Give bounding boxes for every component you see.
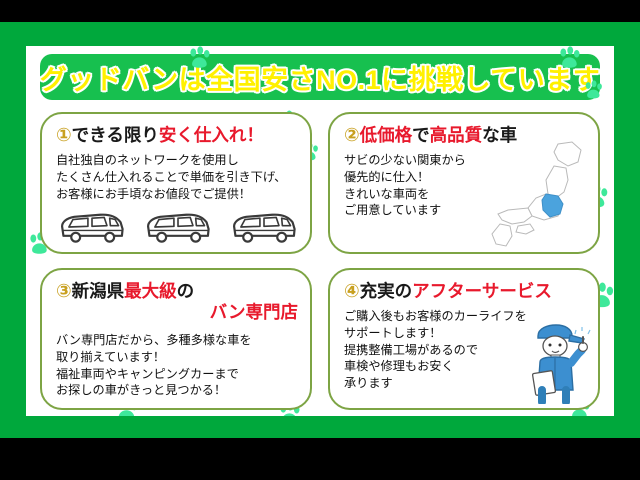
- card-4-number: ④: [344, 280, 360, 301]
- van-icon: [144, 210, 212, 244]
- paw-print-icon: [186, 46, 212, 72]
- card-1-number: ①: [56, 124, 72, 145]
- card-2-heading-mid: で: [412, 125, 430, 145]
- benefits-grid: ①できる限り安く仕入れ！ 自社独自のネットワークを使用し たくさん仕入れることで…: [40, 112, 600, 410]
- card-3-body: バン専門店だから、多種多様な車を 取り揃えています！ 福祉車両やキャンピングカー…: [56, 332, 302, 399]
- benefit-card-1: ①できる限り安く仕入れ！ 自社独自のネットワークを使用し たくさん仕入れることで…: [40, 112, 312, 254]
- card-3-body-line: バン専門店だから、多種多様な車を: [56, 332, 302, 349]
- mechanic-illustration: [516, 320, 592, 404]
- banner-title: グッドバンは全国安さNO.1に挑戦しています: [40, 58, 601, 97]
- card-4-heading-accent: アフターサービス: [412, 281, 552, 301]
- card-2-heading-accent2: 高品質: [430, 125, 483, 145]
- card-1-body-line: お客様にお手頃なお値段でご提供！: [56, 186, 302, 203]
- card-2-heading-accent: 低価格: [360, 125, 413, 145]
- card-4-heading: ④充実のアフターサービス: [344, 280, 590, 301]
- card-2-number: ②: [344, 124, 360, 145]
- card-4-heading-plain: 充実の: [360, 281, 413, 301]
- card-1-body: 自社独自のネットワークを使用し たくさん仕入れることで単価を引き下げ、 お客様に…: [56, 152, 302, 202]
- card-3-heading-line2: バン専門店: [56, 302, 298, 322]
- japan-map-illustration: [488, 140, 592, 252]
- benefit-card-2: ②低価格で高品質な車 サビの少ない関東から 優先的に仕入！ きれいな車両を ご用…: [328, 112, 600, 254]
- van-icon: [58, 210, 126, 244]
- card-3-heading: ③新潟県最大級の: [56, 280, 302, 301]
- card-1-body-line: 自社独自のネットワークを使用し: [56, 152, 302, 169]
- van-illustration-row: [58, 210, 298, 244]
- card-3-body-line: 取り揃えています！: [56, 349, 302, 366]
- paw-print-icon: [556, 46, 582, 72]
- card-1-heading-plain: できる限り: [72, 125, 159, 145]
- van-icon: [230, 210, 298, 244]
- card-3-heading-plain: 新潟県: [72, 281, 125, 301]
- card-3-heading-line2-text: バン専門店: [210, 302, 298, 322]
- card-1-body-line: たくさん仕入れることで単価を引き下げ、: [56, 169, 302, 186]
- card-1-heading-accent: 安く仕入れ！: [159, 125, 264, 145]
- card-1-heading: ①できる限り安く仕入れ！: [56, 124, 302, 145]
- benefit-card-3: ③新潟県最大級の バン専門店 バン専門店だから、多種多様な車を 取り揃えています…: [40, 268, 312, 410]
- paw-print-icon: [582, 80, 604, 102]
- card-3-heading-accent: 最大級: [124, 281, 177, 301]
- advertisement-banner: グッドバンは全国安さNO.1に挑戦しています: [0, 0, 640, 480]
- advertisement-page: グッドバンは全国安さNO.1に挑戦しています: [26, 46, 614, 416]
- header-banner: グッドバンは全国安さNO.1に挑戦しています: [40, 54, 600, 100]
- card-3-body-line: お探しの車がきっと見つかる！: [56, 382, 302, 399]
- card-3-body-line: 福祉車両やキャンピングカーまで: [56, 366, 302, 383]
- benefit-card-4: ④充実のアフターサービス ご購入後もお客様のカーライフを サポートします！ 提携…: [328, 268, 600, 410]
- card-3-number: ③: [56, 280, 72, 301]
- card-3-heading-tail: の: [177, 281, 195, 301]
